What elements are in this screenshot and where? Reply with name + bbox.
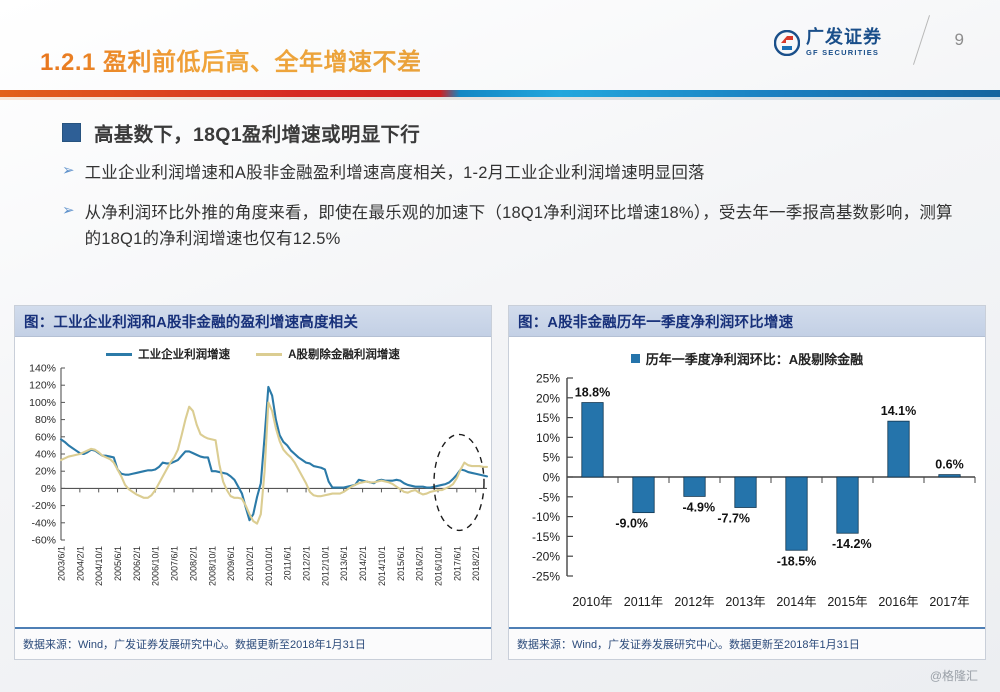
svg-text:2014/10/1: 2014/10/1 xyxy=(377,546,387,586)
svg-text:-9.0%: -9.0% xyxy=(615,517,648,531)
arrow-bullet-icon: ➢ xyxy=(62,160,75,187)
svg-text:80%: 80% xyxy=(35,414,56,426)
svg-text:20%: 20% xyxy=(35,466,56,478)
svg-text:-40%: -40% xyxy=(31,517,56,529)
svg-text:2012年: 2012年 xyxy=(674,595,714,609)
svg-text:2008/10/1: 2008/10/1 xyxy=(207,546,217,586)
logo-text-cn: 广发证券 xyxy=(806,28,882,46)
bullet-item: ➢ 从净利润环比外推的角度来看，即使在最乐观的加速下（18Q1净利润环比增速18… xyxy=(62,200,957,253)
svg-text:2012/2/1: 2012/2/1 xyxy=(302,546,312,581)
accent-bar-shadow xyxy=(0,97,1000,100)
svg-text:-20%: -20% xyxy=(532,550,560,564)
svg-text:2010/10/1: 2010/10/1 xyxy=(264,546,274,586)
svg-text:10%: 10% xyxy=(536,431,560,445)
svg-text:2017/6/1: 2017/6/1 xyxy=(452,546,462,581)
chart-title-right: 图：A股非金融历年一季度净利润环比增速 xyxy=(509,306,985,337)
svg-text:2007/6/1: 2007/6/1 xyxy=(170,546,180,581)
svg-text:2013/6/1: 2013/6/1 xyxy=(339,546,349,581)
logo-text-en: GF SECURITIES xyxy=(806,48,879,57)
svg-text:2008/2/1: 2008/2/1 xyxy=(188,546,198,581)
accent-bar xyxy=(0,90,1000,97)
svg-text:0.6%: 0.6% xyxy=(935,458,964,472)
svg-text:14.1%: 14.1% xyxy=(881,404,916,418)
svg-text:2009/6/1: 2009/6/1 xyxy=(226,546,236,581)
svg-text:-25%: -25% xyxy=(532,570,560,584)
legend-item-ashare-exfin: A股剔除金融利润增速 xyxy=(256,346,400,362)
chart-legend-left: 工业企业利润增速 A股剔除金融利润增速 xyxy=(15,337,491,362)
svg-text:40%: 40% xyxy=(35,449,56,461)
logo-mark-icon xyxy=(774,30,800,56)
svg-text:2016年: 2016年 xyxy=(878,595,918,609)
svg-text:2011年: 2011年 xyxy=(624,595,663,609)
svg-text:2015年: 2015年 xyxy=(827,595,867,609)
svg-text:2014/2/1: 2014/2/1 xyxy=(358,546,368,581)
svg-text:-18.5%: -18.5% xyxy=(777,554,817,568)
svg-text:120%: 120% xyxy=(29,380,56,392)
bullet-text: 工业企业利润增速和A股非金融盈利增速高度相关，1-2月工业企业利润增速明显回落 xyxy=(85,160,705,187)
legend-label: 历年一季度净利润环比：A股剔除金融 xyxy=(646,349,863,368)
svg-text:5%: 5% xyxy=(543,451,561,465)
chart-source-right: 数据来源：Wind，广发证券发展研究中心。数据更新至2018年1月31日 xyxy=(509,627,985,659)
slide-content: 高基数下，18Q1盈利增速或明显下行 ➢ 工业企业利润增速和A股非金融盈利增速高… xyxy=(0,104,1000,253)
chart-title-left: 图：工业企业利润和A股非金融的盈利增速高度相关 xyxy=(15,306,491,337)
svg-text:2015/6/1: 2015/6/1 xyxy=(396,546,406,581)
bullet-text: 从净利润环比外推的角度来看，即使在最乐观的加速下（18Q1净利润环比增速18%）… xyxy=(85,200,957,253)
chart-body-right: 历年一季度净利润环比：A股剔除金融 25%20%15%10%5%0%-5%-10… xyxy=(509,337,985,627)
chart-source-left: 数据来源：Wind，广发证券发展研究中心。数据更新至2018年1月31日 xyxy=(15,627,491,659)
svg-text:0%: 0% xyxy=(41,483,56,495)
svg-text:2010年: 2010年 xyxy=(572,595,612,609)
svg-text:-4.9%: -4.9% xyxy=(682,500,715,514)
svg-text:-14.2%: -14.2% xyxy=(832,537,872,551)
svg-text:2016/10/1: 2016/10/1 xyxy=(433,546,443,586)
svg-text:2013年: 2013年 xyxy=(725,595,765,609)
svg-text:2003/6/1: 2003/6/1 xyxy=(57,546,67,581)
svg-text:20%: 20% xyxy=(536,391,560,405)
chart-panel-left: 图：工业企业利润和A股非金融的盈利增速高度相关 工业企业利润增速 A股剔除金融利… xyxy=(14,305,492,660)
svg-text:2006/2/1: 2006/2/1 xyxy=(132,546,142,581)
page-number: 9 xyxy=(955,30,964,50)
svg-text:2004/2/1: 2004/2/1 xyxy=(75,546,85,581)
chart-body-left: 工业企业利润增速 A股剔除金融利润增速 140%120%100%80%60%40… xyxy=(15,337,491,627)
svg-text:0%: 0% xyxy=(543,471,561,485)
logo-divider xyxy=(913,15,930,65)
svg-text:-7.7%: -7.7% xyxy=(717,511,750,525)
svg-text:-60%: -60% xyxy=(31,535,56,547)
slide-header: 1.2.1 盈利前低后高、全年增速不差 广发证券 GF SECURITIES 9 xyxy=(0,0,1000,100)
svg-text:2005/6/1: 2005/6/1 xyxy=(113,546,123,581)
legend-swatch-box xyxy=(631,354,640,363)
svg-text:-5%: -5% xyxy=(539,490,561,504)
legend-item-industrial-profit: 工业企业利润增速 xyxy=(106,346,230,362)
chart-panel-right: 图：A股非金融历年一季度净利润环比增速 历年一季度净利润环比：A股剔除金融 25… xyxy=(508,305,986,660)
svg-text:60%: 60% xyxy=(35,431,56,443)
chart-legend-right: 历年一季度净利润环比：A股剔除金融 xyxy=(509,337,985,368)
svg-text:-20%: -20% xyxy=(31,500,56,512)
legend-label: A股剔除金融利润增速 xyxy=(288,346,400,362)
svg-text:2014年: 2014年 xyxy=(776,595,816,609)
svg-text:-15%: -15% xyxy=(532,530,560,544)
svg-text:140%: 140% xyxy=(29,363,56,375)
svg-text:2016/2/1: 2016/2/1 xyxy=(415,546,425,581)
svg-text:100%: 100% xyxy=(29,397,56,409)
legend-item-q1-qoq: 历年一季度净利润环比：A股剔除金融 xyxy=(631,349,863,368)
svg-text:18.8%: 18.8% xyxy=(575,386,610,400)
svg-text:2010/2/1: 2010/2/1 xyxy=(245,546,255,581)
legend-swatch-line xyxy=(106,353,132,356)
bullet-item: ➢ 工业企业利润增速和A股非金融盈利增速高度相关，1-2月工业企业利润增速明显回… xyxy=(62,160,957,187)
headline-row: 高基数下，18Q1盈利增速或明显下行 xyxy=(62,118,1000,147)
bar-chart-svg: 25%20%15%10%5%0%-5%-10%-15%-20%-25%18.8%… xyxy=(509,368,985,620)
svg-text:2006/10/1: 2006/10/1 xyxy=(151,546,161,586)
line-chart-svg: 140%120%100%80%60%40%20%0%-20%-40%-60%20… xyxy=(15,362,491,620)
svg-text:-10%: -10% xyxy=(532,510,560,524)
svg-text:25%: 25% xyxy=(536,372,560,386)
arrow-bullet-icon: ➢ xyxy=(62,200,75,253)
legend-swatch-line xyxy=(256,353,282,356)
svg-text:2018/2/1: 2018/2/1 xyxy=(471,546,481,581)
page-title: 1.2.1 盈利前低后高、全年增速不差 xyxy=(40,42,422,77)
gf-securities-logo: 广发证券 GF SECURITIES xyxy=(774,28,882,57)
legend-label: 工业企业利润增速 xyxy=(138,346,230,362)
svg-text:2011/6/1: 2011/6/1 xyxy=(283,546,293,580)
headline-square-bullet-icon xyxy=(62,123,81,142)
svg-text:2017年: 2017年 xyxy=(929,595,969,609)
watermark: @格隆汇 xyxy=(930,667,978,684)
svg-text:2004/10/1: 2004/10/1 xyxy=(94,546,104,586)
headline-text: 高基数下，18Q1盈利增速或明显下行 xyxy=(94,118,420,147)
svg-text:15%: 15% xyxy=(536,411,560,425)
svg-text:2012/10/1: 2012/10/1 xyxy=(320,546,330,586)
